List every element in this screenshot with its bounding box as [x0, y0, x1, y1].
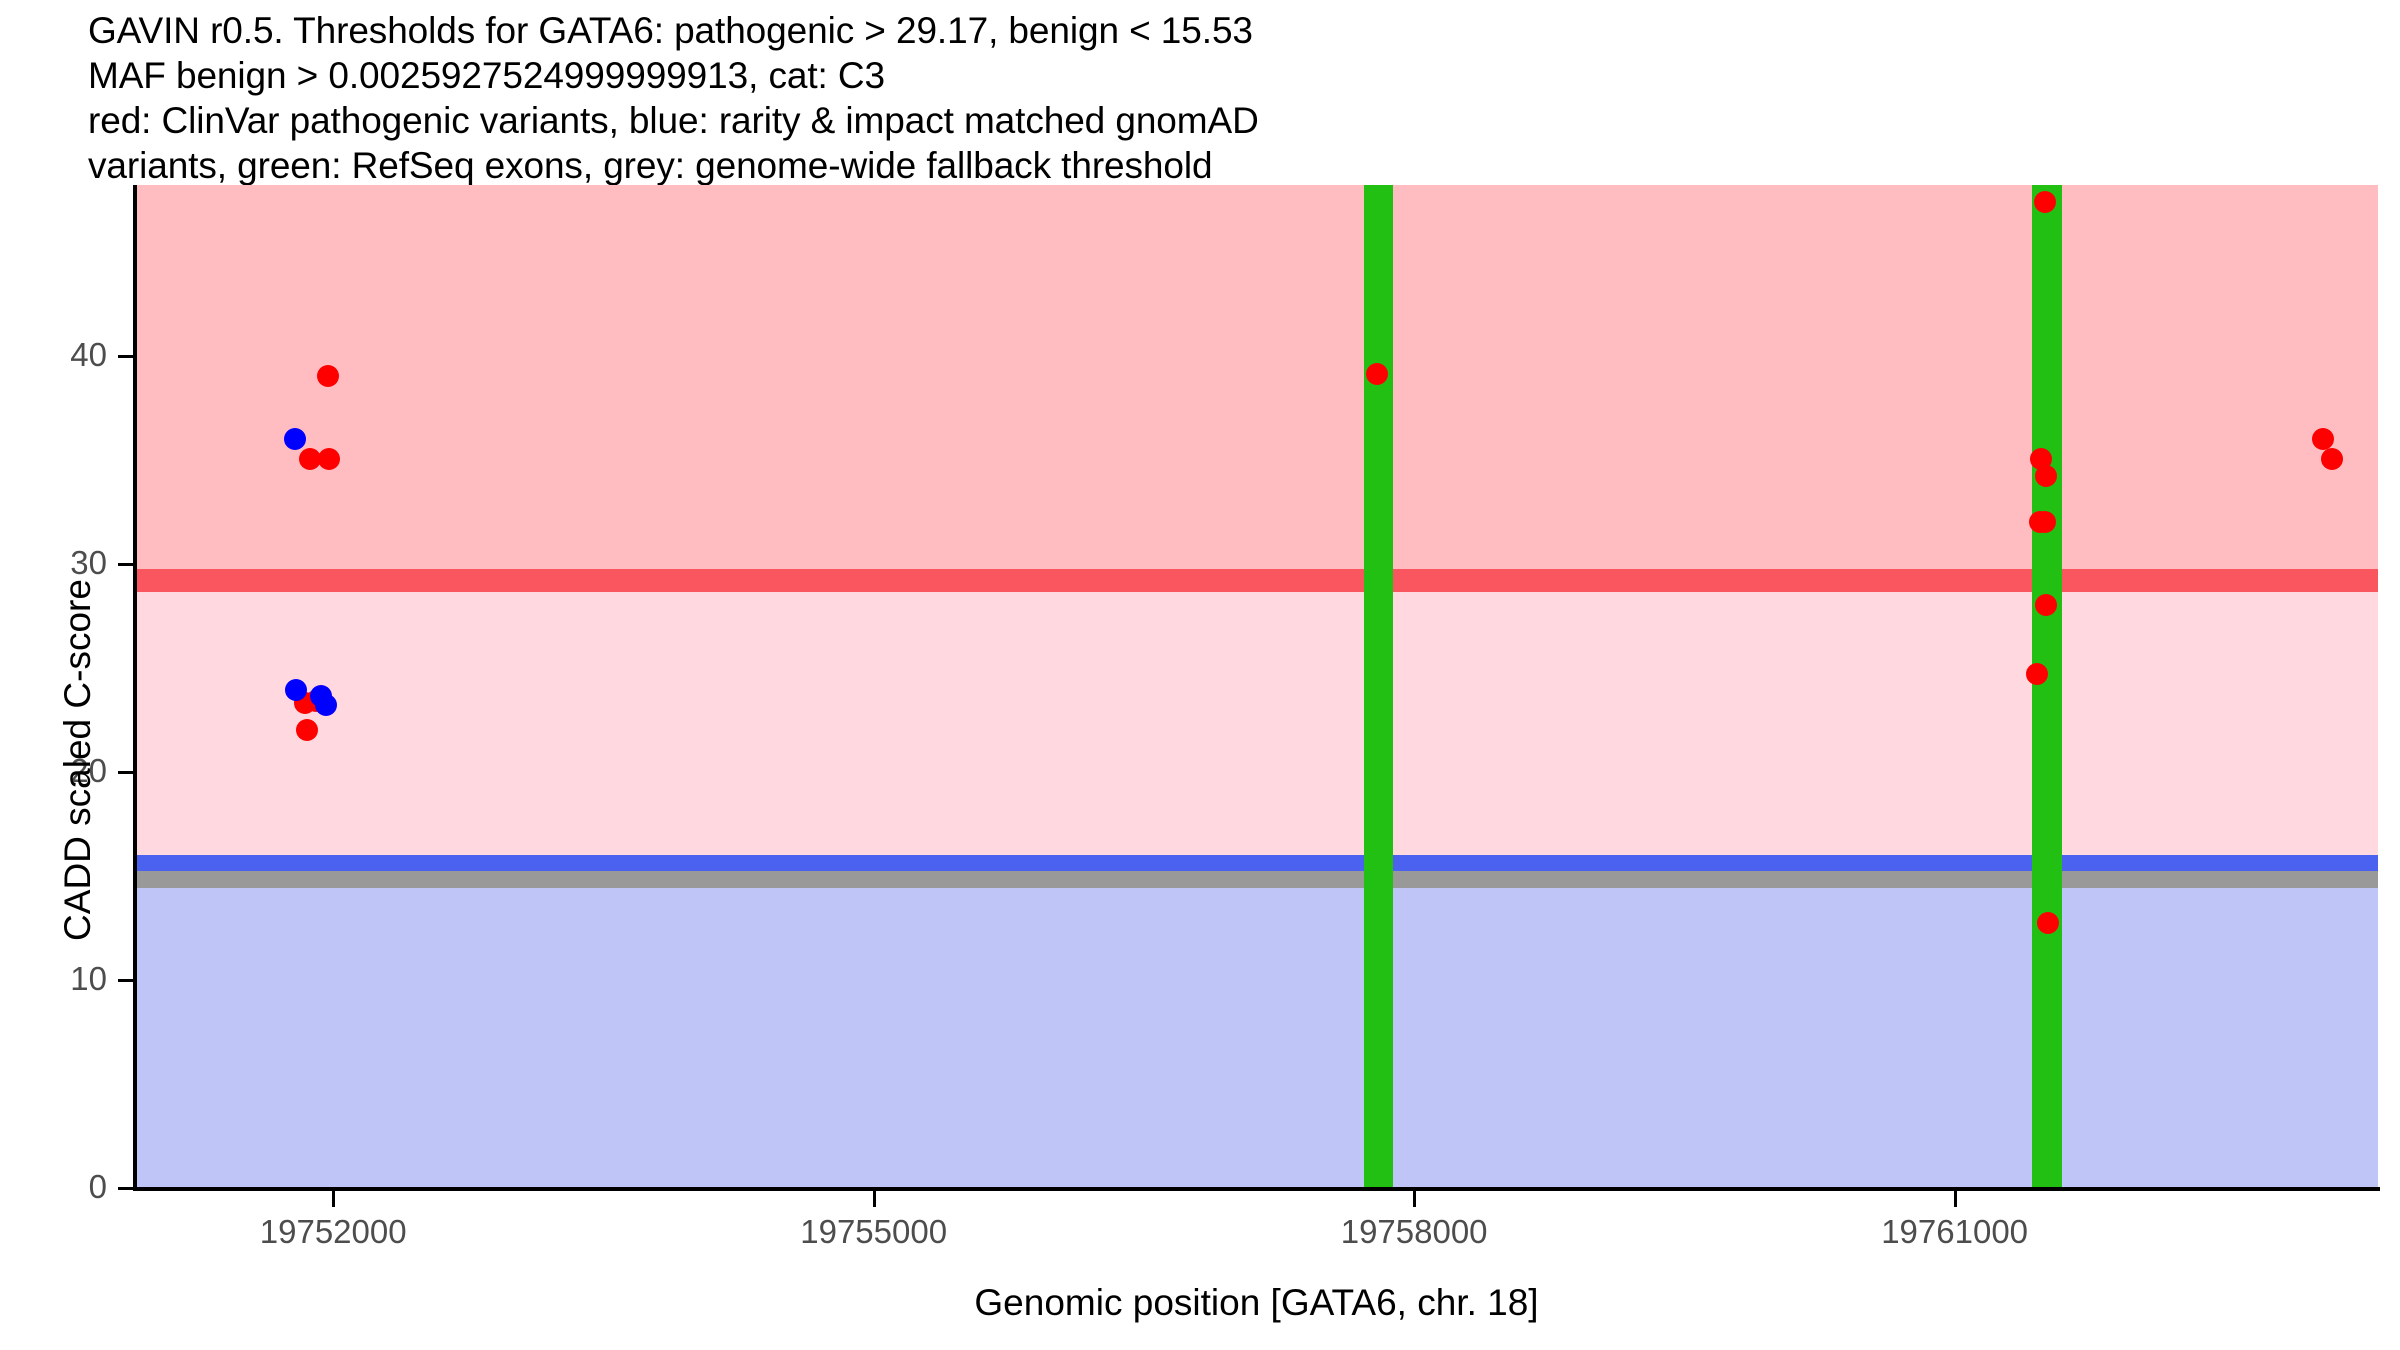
data-point: [2035, 594, 2057, 616]
x-tick-mark: [1413, 1191, 1416, 1207]
data-point: [317, 365, 339, 387]
data-point: [2035, 465, 2057, 487]
data-point: [2026, 663, 2048, 685]
x-tick-label: 19755000: [800, 1213, 947, 1251]
exon-bar: [1364, 185, 1394, 1187]
data-point: [2034, 191, 2056, 213]
data-point: [284, 428, 306, 450]
x-tick-mark: [873, 1191, 876, 1207]
title-line-3: red: ClinVar pathogenic variants, blue: …: [88, 98, 2338, 143]
chart-figure: GAVIN r0.5. Thresholds for GATA6: pathog…: [0, 0, 2400, 1350]
y-axis-line: [133, 185, 137, 1190]
title-line-4: variants, green: RefSeq exons, grey: gen…: [88, 143, 2338, 188]
data-point: [315, 694, 337, 716]
y-tick-mark: [118, 1187, 134, 1190]
x-axis-title: Genomic position [GATA6, chr. 18]: [135, 1282, 2378, 1324]
y-axis-title: CADD scaled C-score: [50, 310, 106, 1210]
data-point: [2034, 511, 2056, 533]
y-tick-mark: [118, 563, 134, 566]
y-tick-mark: [118, 771, 134, 774]
data-point: [318, 448, 340, 470]
title-line-1: GAVIN r0.5. Thresholds for GATA6: pathog…: [88, 8, 2338, 53]
chart-title: GAVIN r0.5. Thresholds for GATA6: pathog…: [88, 8, 2338, 188]
x-axis-line: [133, 1187, 2380, 1191]
y-tick-mark: [118, 355, 134, 358]
plot-panel: [135, 185, 2378, 1187]
y-tick-mark: [118, 979, 134, 982]
x-tick-mark: [332, 1191, 335, 1207]
data-point: [2312, 428, 2334, 450]
title-line-2: MAF benign > 0.0025927524999999913, cat:…: [88, 53, 2338, 98]
exon-bar: [2032, 185, 2062, 1187]
x-tick-label: 19758000: [1341, 1213, 1488, 1251]
x-tick-label: 19761000: [1881, 1213, 2028, 1251]
x-tick-label: 19752000: [260, 1213, 407, 1251]
x-tick-mark: [1954, 1191, 1957, 1207]
data-point: [296, 719, 318, 741]
